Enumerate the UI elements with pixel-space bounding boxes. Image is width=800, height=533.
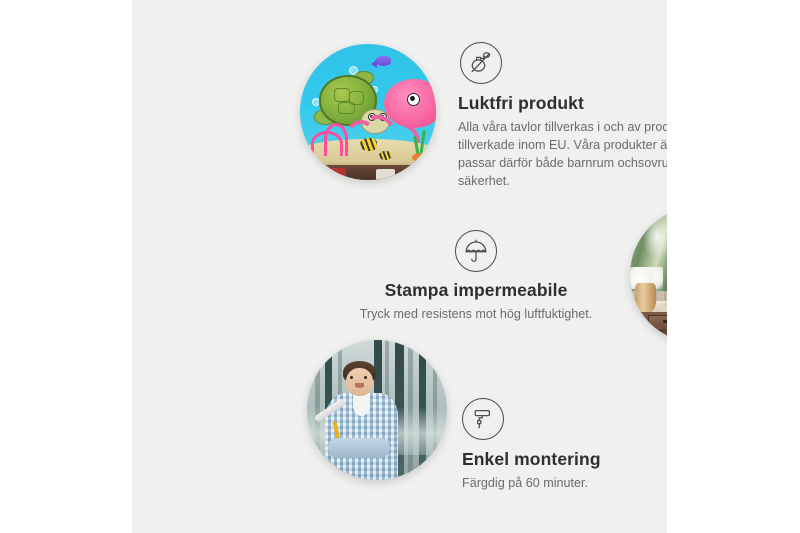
aquarium-scene bbox=[300, 44, 436, 180]
yellow-fish-icon bbox=[360, 138, 377, 151]
underwater-cartoon-wallpaper-photo[interactable] bbox=[300, 44, 436, 180]
feature-description: Färgdig på 60 minuter. bbox=[462, 475, 667, 493]
paint-roller-icon bbox=[462, 398, 504, 440]
feature-description: Alla våra tavlor tillverkas i och av pro… bbox=[458, 119, 667, 191]
shell-icon bbox=[376, 169, 395, 180]
bathroom-scene bbox=[630, 207, 667, 343]
feature-odourless: Luktfri produkt Alla våra tavlor tillver… bbox=[458, 42, 667, 191]
sea-bottom-shadow bbox=[300, 165, 436, 180]
wooden-vanity bbox=[641, 312, 667, 343]
feature-title: Luktfri produkt bbox=[458, 93, 667, 113]
feature-waterproof: Stampa impermeabile Tryck med resistens … bbox=[326, 230, 626, 324]
painter-scene bbox=[307, 340, 447, 480]
woman-paint-roller-forest-wallpaper-photo[interactable] bbox=[307, 340, 447, 480]
no-odour-spray-bottle-icon bbox=[460, 42, 502, 84]
feature-panel: Luktfri produkt Alla våra tavlor tillver… bbox=[132, 0, 667, 533]
woman-face bbox=[346, 368, 373, 396]
purple-fish-tail-icon bbox=[371, 60, 377, 68]
coral-icon bbox=[324, 123, 348, 156]
umbrella-icon bbox=[455, 230, 497, 272]
octopus-eye-icon bbox=[407, 93, 420, 106]
feature-title: Stampa impermeabile bbox=[326, 280, 626, 300]
smile-icon bbox=[355, 383, 365, 387]
treasure-chest-icon bbox=[330, 168, 346, 180]
soap-dish bbox=[663, 302, 667, 307]
shirt-collar bbox=[353, 393, 370, 415]
crossed-arms bbox=[328, 438, 390, 458]
bathroom-botanical-wallpaper-photo[interactable] bbox=[630, 207, 667, 343]
yellow-fish-icon bbox=[379, 151, 391, 160]
gold-vase bbox=[635, 283, 655, 313]
feature-title: Enkel montering bbox=[462, 449, 667, 469]
purple-fish-icon bbox=[375, 56, 391, 66]
feature-assembly: Enkel montering Färgdig på 60 minuter. bbox=[462, 398, 667, 493]
screenshot-root: Luktfri produkt Alla våra tavlor tillver… bbox=[0, 0, 800, 533]
feature-description: Tryck med resistens mot hög luftfuktighe… bbox=[326, 306, 626, 324]
